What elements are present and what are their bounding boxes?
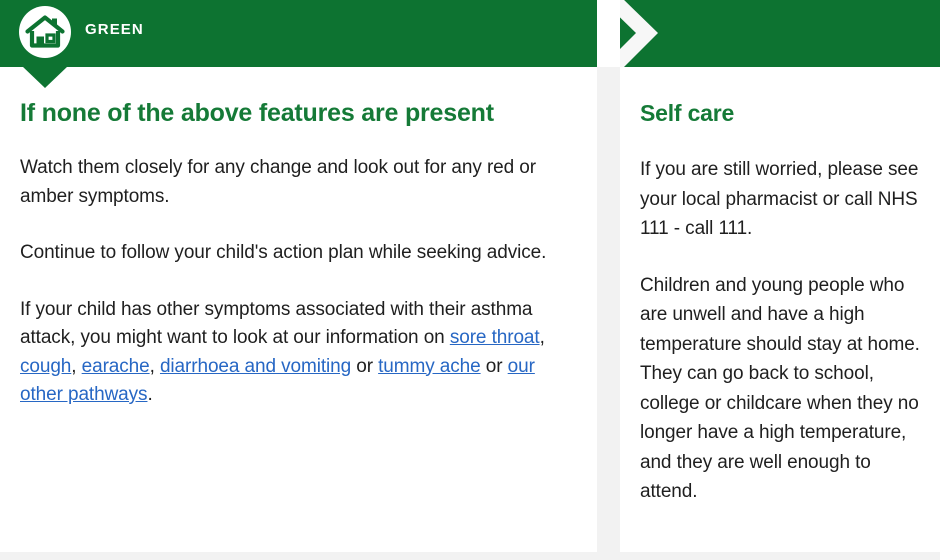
link-earache[interactable]: earache [82,356,150,377]
left-panel: If none of the above features are presen… [0,0,597,552]
house-icon [19,6,71,58]
right-section-title: Self care [640,98,930,128]
right-panel: Self care If you are still worried, plea… [620,0,940,552]
sep-5: or [481,356,508,377]
link-cough[interactable]: cough [20,356,71,377]
sep-1: , [540,327,545,348]
link-tummy-ache[interactable]: tummy ache [378,356,480,377]
link-sore-throat[interactable]: sore throat [450,327,540,348]
left-section-title: If none of the above features are presen… [20,98,572,128]
right-column-body: Self care If you are still worried, plea… [640,98,930,507]
sep-2: , [71,356,81,377]
paragraph-action-plan: Continue to follow your child's action p… [20,239,572,268]
paragraph-watch-closely: Watch them closely for any change and lo… [20,154,572,211]
left-column-body: If none of the above features are presen… [20,98,572,410]
paragraph-other-symptoms: If your child has other symptoms associa… [20,296,572,410]
header-pointer-triangle [22,66,68,88]
link-diarrhoea-and-vomiting[interactable]: diarrhoea and vomiting [160,356,351,377]
sep-3: , [150,356,160,377]
header-label: GREEN [85,21,144,38]
header-column-gutter [597,0,620,67]
paragraph-school-return: Children and young people who are unwell… [640,271,930,507]
advice-card-page: If none of the above features are presen… [0,0,940,560]
paragraph-still-worried: If you are still worried, please see you… [640,155,930,244]
sep-4: or [351,356,378,377]
sentence-period: . [147,384,152,405]
